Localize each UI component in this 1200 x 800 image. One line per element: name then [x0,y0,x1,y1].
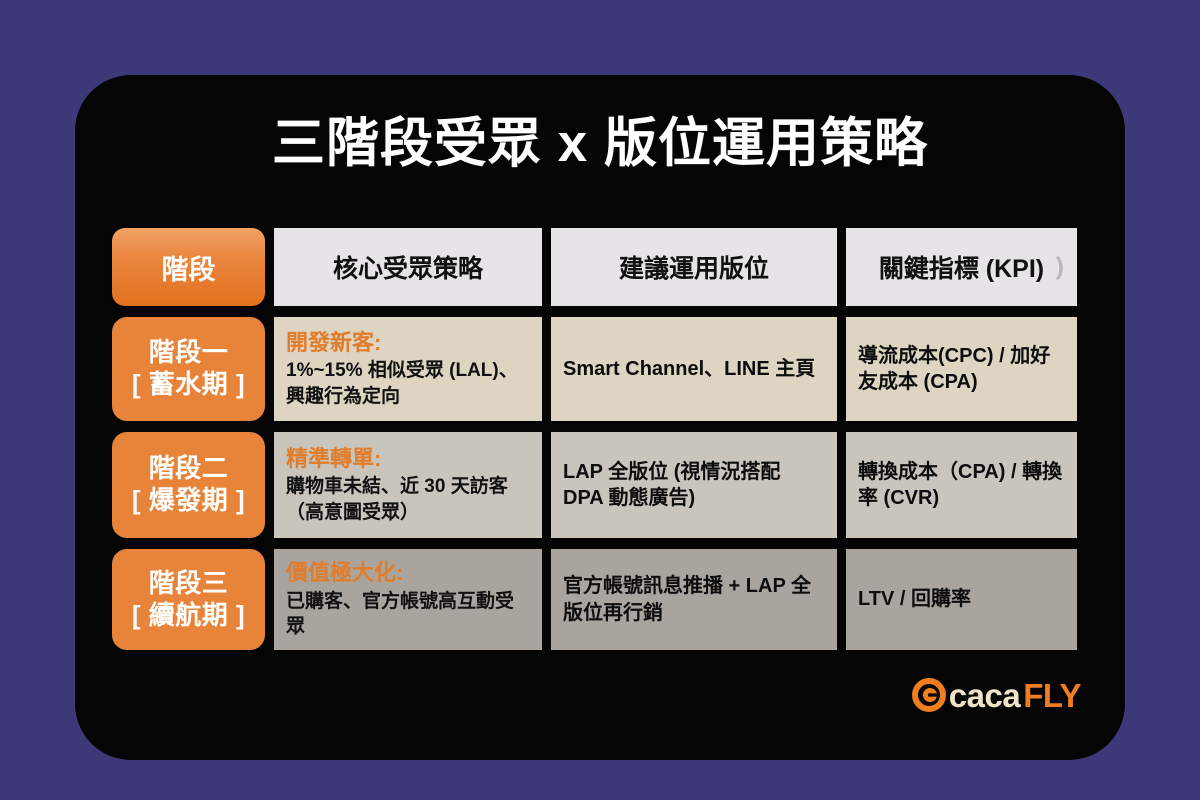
cell-audience-3-lead: 價值極大化: [286,559,530,587]
slide-card: 三階段受眾 x 版位運用策略 階段 核心受眾策略 建議運用版位 關鍵指標 (KP… [75,75,1125,760]
cell-placements-3-text: 官方帳號訊息推播 + LAP 全版位再行銷 [563,573,825,626]
header-stage: 階段 [112,228,265,306]
stage-badge-1-phase: [ 蓄水期 ] [132,369,245,401]
stage-badge-2[interactable]: 階段二 [ 爆發期 ] [112,432,265,538]
stage-badge-3-name: 階段三 [149,568,229,600]
table-row: 階段二 [ 爆發期 ] 精準轉單: 購物車未結、近 30 天訪客（高意圖受眾） … [112,432,1070,538]
cell-placements-3: 官方帳號訊息推播 + LAP 全版位再行銷 [551,549,837,650]
cell-audience-2-lead: 精準轉單: [286,445,530,473]
header-audience-strategy-label: 核心受眾策略 [333,249,483,285]
cell-audience-3: 價值極大化: 已購客、官方帳號高互動受眾 [274,549,542,650]
cell-audience-1: 開發新客: 1%~15% 相似受眾 (LAL)、興趣行為定向 [274,317,542,421]
header-kpi: 關鍵指標 (KPI) ) [846,228,1077,306]
cell-placements-1: Smart Channel、LINE 主頁 [551,317,837,421]
page-title: 三階段受眾 x 版位運用策略 [75,115,1125,173]
stage-badge-1[interactable]: 階段一 [ 蓄水期 ] [112,317,265,421]
cell-kpi-2-text: 轉換成本（CPA) / 轉換率 (CVR) [858,459,1065,512]
logo-text-caca: caca [949,679,1020,712]
strategy-table: 階段 核心受眾策略 建議運用版位 關鍵指標 (KPI) ) 階段一 [ 蓄水期 … [112,228,1070,650]
cacafly-c-mark-icon [912,678,946,712]
table-row: 階段三 [ 續航期 ] 價值極大化: 已購客、官方帳號高互動受眾 官方帳號訊息推… [112,549,1070,650]
header-kpi-artifact: ) [1056,253,1064,282]
stage-badge-2-phase: [ 爆發期 ] [132,485,245,517]
stage-badge-3-phase: [ 續航期 ] [132,600,245,632]
cell-audience-1-lead: 開發新客: [286,329,530,357]
cell-kpi-3: LTV / 回購率 [846,549,1077,650]
stage-badge-1-name: 階段一 [149,337,229,369]
cell-kpi-3-text: LTV / 回購率 [858,586,1065,612]
cell-kpi-1: 導流成本(CPC) / 加好友成本 (CPA) [846,317,1077,421]
cell-audience-1-body: 1%~15% 相似受眾 (LAL)、興趣行為定向 [286,358,530,409]
cell-placements-2-text: LAP 全版位 (視情況搭配 DPA 動態廣告) [563,459,825,512]
cell-audience-2-body: 購物車未結、近 30 天訪客（高意圖受眾） [286,474,530,525]
cell-placements-2: LAP 全版位 (視情況搭配 DPA 動態廣告) [551,432,837,538]
cell-placements-1-text: Smart Channel、LINE 主頁 [563,356,825,382]
header-kpi-label: 關鍵指標 (KPI) [879,249,1044,285]
cell-kpi-1-text: 導流成本(CPC) / 加好友成本 (CPA) [858,343,1065,396]
cell-audience-2: 精準轉單: 購物車未結、近 30 天訪客（高意圖受眾） [274,432,542,538]
header-recommended-placements-label: 建議運用版位 [619,249,769,285]
logo-text-fly: FLY [1023,679,1081,712]
table-header-row: 階段 核心受眾策略 建議運用版位 關鍵指標 (KPI) ) [112,228,1070,306]
stage-badge-2-name: 階段二 [149,453,229,485]
table-row: 階段一 [ 蓄水期 ] 開發新客: 1%~15% 相似受眾 (LAL)、興趣行為… [112,317,1070,421]
header-audience-strategy: 核心受眾策略 [274,228,542,306]
stage-badge-3[interactable]: 階段三 [ 續航期 ] [112,549,265,650]
cell-kpi-2: 轉換成本（CPA) / 轉換率 (CVR) [846,432,1077,538]
cacafly-logo: cacaFLY [912,678,1081,712]
header-recommended-placements: 建議運用版位 [551,228,837,306]
cell-audience-3-body: 已購客、官方帳號高互動受眾 [286,589,530,640]
